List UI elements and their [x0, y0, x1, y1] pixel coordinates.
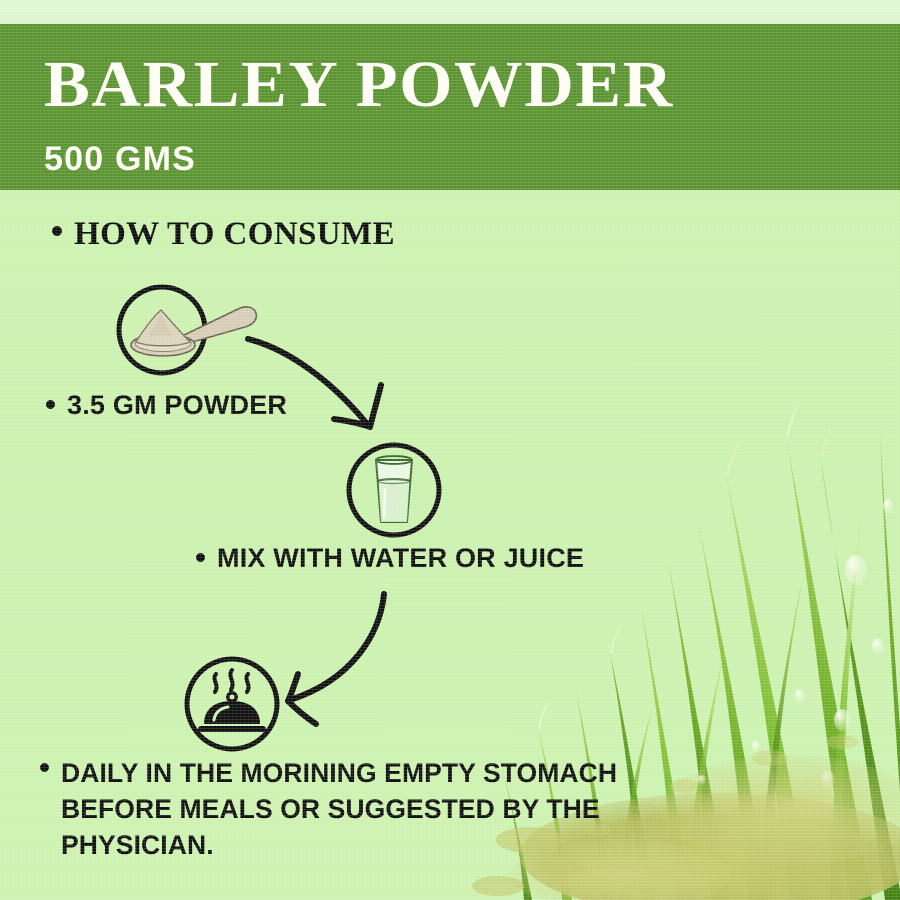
- product-info-poster: BARLEY POWDER 500 GMS HOW TO CONSUME: [0, 0, 900, 900]
- instructions-content: HOW TO CONSUME 3.5 GM P: [0, 190, 900, 900]
- step-2-row: MIX WITH WATER OR JUICE: [196, 545, 584, 572]
- product-header-banner: BARLEY POWDER 500 GMS: [0, 24, 900, 190]
- step-3-row: DAILY IN THE MORINING EMPTY STOMACH BEFO…: [40, 755, 661, 863]
- curved-arrow-down-left-icon: [268, 588, 448, 748]
- step-2-label: MIX WITH WATER OR JUICE: [217, 545, 584, 572]
- bullet-dot-icon: [40, 763, 49, 772]
- page-title: BARLEY POWDER: [44, 52, 900, 118]
- product-weight: 500 GMS: [44, 142, 900, 176]
- covered-dish-steam-icon: [176, 652, 288, 756]
- section-heading-row: HOW TO CONSUME: [52, 218, 395, 251]
- step-1-label: 3.5 GM POWDER: [67, 392, 287, 419]
- bullet-dot-icon: [196, 553, 205, 562]
- bullet-dot-icon: [46, 400, 55, 409]
- glass-of-water-icon: [338, 438, 450, 542]
- bullet-dot-icon: [52, 226, 62, 236]
- step-3-label: DAILY IN THE MORINING EMPTY STOMACH BEFO…: [61, 755, 661, 863]
- curved-arrow-down-right-icon: [244, 333, 414, 445]
- step-1-row: 3.5 GM POWDER: [46, 392, 287, 419]
- section-heading: HOW TO CONSUME: [74, 218, 395, 251]
